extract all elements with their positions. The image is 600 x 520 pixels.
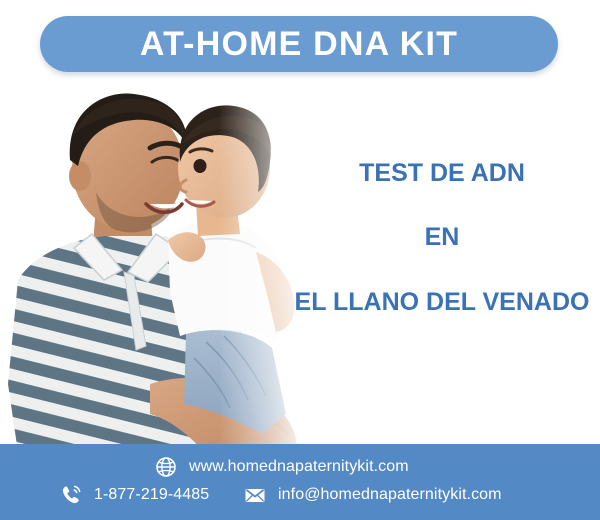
headline-line-service: TEST DE ADN [292,160,592,186]
poster-canvas: AT-HOME DNA KIT [0,0,600,520]
website-text: www.homednapaternitykit.com [189,458,409,476]
phone-icon [60,484,82,506]
headline-line-location: EL LLANO DEL VENADO [292,289,592,315]
headline-line-connector: EN [292,224,592,250]
father-and-child-illustration [0,84,312,466]
footer-website-row[interactable]: www.homednapaternitykit.com [155,456,409,478]
footer-rows: www.homednapaternitykit.com 1-877-219-44… [0,444,600,520]
envelope-icon [244,484,266,506]
email-text: info@homednapaternitykit.com [278,486,502,504]
header-banner: AT-HOME DNA KIT [40,16,558,72]
hero-photo [0,84,312,466]
globe-icon [155,456,177,478]
footer-contact-bar: www.homednapaternitykit.com 1-877-219-44… [0,444,600,520]
footer-email-row[interactable]: info@homednapaternitykit.com [244,484,502,506]
headline-block: TEST DE ADN EN EL LLANO DEL VENADO [292,160,592,315]
page-title: AT-HOME DNA KIT [140,27,458,61]
phone-text: 1-877-219-4485 [94,486,209,504]
footer-phone-row[interactable]: 1-877-219-4485 [60,484,209,506]
